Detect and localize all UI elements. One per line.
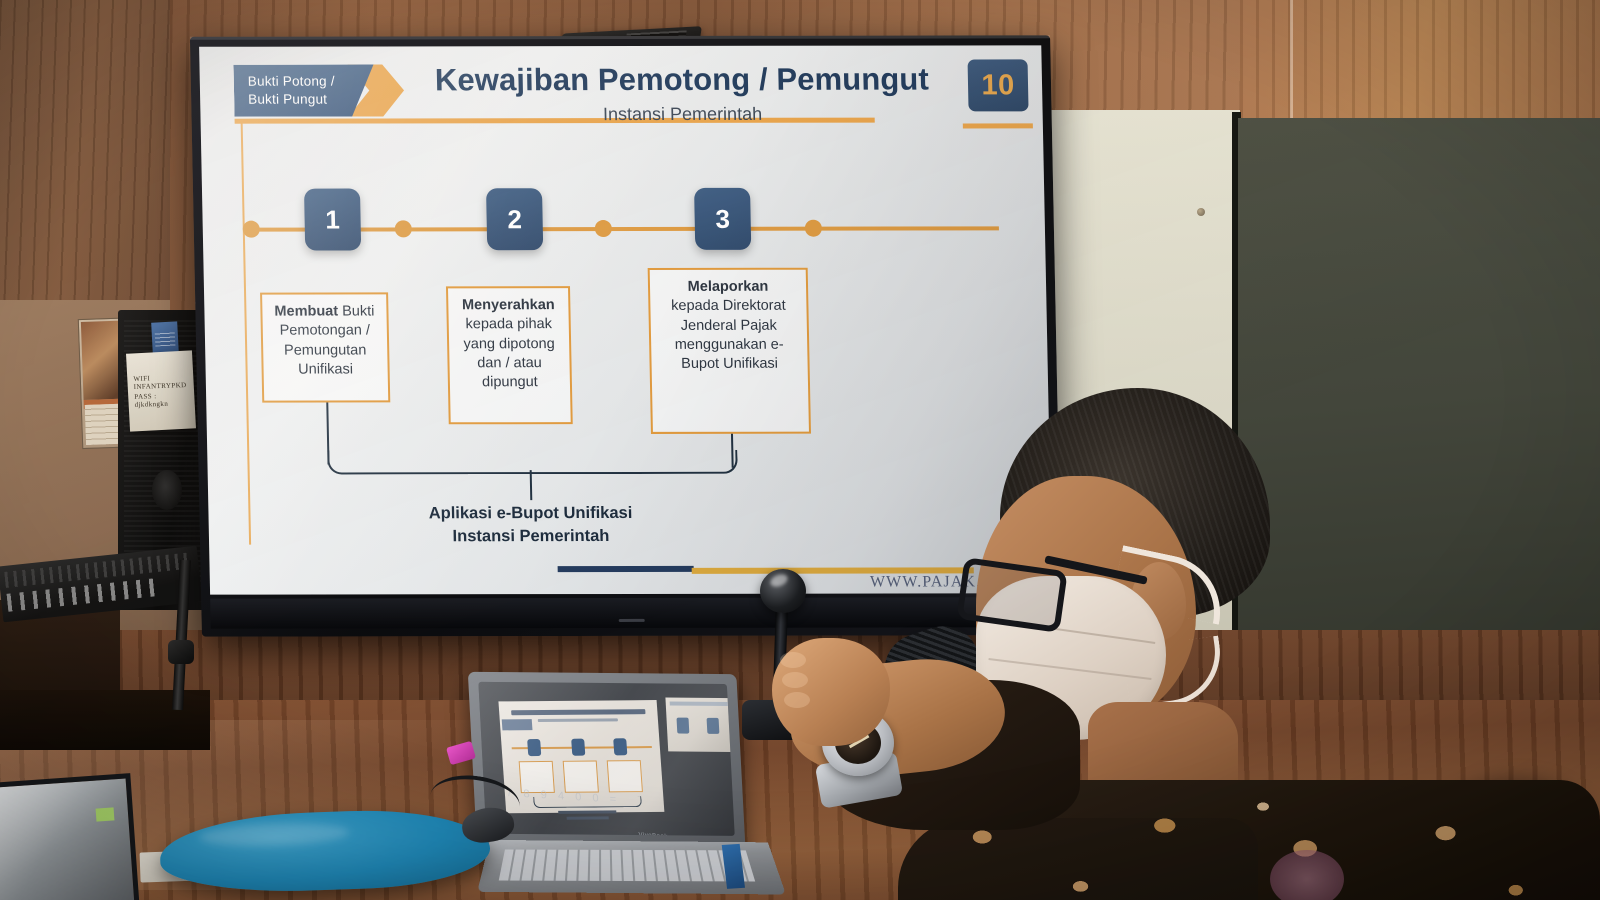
- footer-rule-navy: [558, 566, 694, 572]
- step-1-bold: Membuat: [274, 304, 338, 320]
- timeline-node-1-number: 1: [325, 204, 340, 235]
- slide-page-badge: 10: [968, 59, 1029, 111]
- wifi-password-sign: WIFI INFANTRYPKD PASS : djkdkngkn: [126, 350, 196, 431]
- speaker-driver: [152, 470, 182, 510]
- slide-left-border-rule: [241, 123, 251, 545]
- framed-monitor-panel: [0, 773, 139, 900]
- timeline-node-3-number: 3: [715, 203, 730, 234]
- mic-stand-joint: [168, 640, 194, 664]
- slide-caption-line-1: Aplikasi e-Bupot Unifikasi: [320, 502, 741, 525]
- timeline-node-2: 2: [486, 188, 543, 250]
- slide-tab-line-1: Bukti Potong /: [248, 72, 374, 90]
- eyeglasses-lens: [956, 557, 1068, 633]
- slide-timeline: 1 2 3: [243, 225, 1021, 230]
- laptop[interactable]: 7 8 9 4 0 0 = VivoBook: [468, 664, 780, 900]
- wall-screw: [1197, 208, 1205, 216]
- wall-wood-right-panel: [1240, 0, 1600, 120]
- blue-notice-card: [151, 321, 179, 354]
- slide-tab-line-2: Bukti Pungut: [248, 90, 374, 108]
- knuckle-2: [782, 672, 808, 688]
- green-sticker: [96, 807, 115, 821]
- timeline-dot-1: [395, 220, 412, 237]
- timeline-dot-end: [805, 220, 822, 237]
- slide-page-badge-rule: [963, 123, 1033, 128]
- wifi-password-text: PASS : djkdkngkn: [134, 391, 191, 409]
- timeline-node-2-number: 2: [507, 204, 522, 235]
- presenter-person: [940, 380, 1600, 900]
- slide-title: Kewajiban Pemotong / Pemungut: [421, 61, 942, 98]
- step-3-rest: kepada Direktorat Jenderal Pajak menggun…: [671, 298, 786, 372]
- timeline-connector-line: [251, 226, 999, 231]
- step-box-3: Melaporkankepada Direktorat Jenderal Paj…: [648, 268, 811, 434]
- slide-page-number: 10: [981, 69, 1015, 102]
- brace-stem-center: [530, 470, 533, 500]
- presentation-display: Bukti Potong / Bukti Pungut 10 Kewajiban…: [190, 35, 1062, 636]
- step-3-bold: Melaporkan: [688, 279, 769, 295]
- step-box-1: Membuat Bukti Pemotongan / Pemungutan Un…: [260, 292, 390, 402]
- grouping-brace: [327, 450, 738, 475]
- photo-scene: WIFI INFANTRYPKD PASS : djkdkngkn Bukti …: [0, 0, 1600, 900]
- slide-section-tab: Bukti Potong / Bukti Pungut: [233, 64, 374, 116]
- mask-ear-loop-lower: [1122, 636, 1227, 712]
- tv-screen: Bukti Potong / Bukti Pungut 10 Kewajiban…: [199, 45, 1052, 594]
- slide-canvas: Bukti Potong / Bukti Pungut 10 Kewajiban…: [199, 45, 1052, 594]
- step-2-bold: Menyerahkan: [462, 297, 555, 313]
- tv-brand-mark: [619, 619, 645, 622]
- wifi-ssid-text: WIFI INFANTRYPKD: [133, 373, 190, 391]
- timeline-node-1: 1: [304, 188, 361, 250]
- slide-subtitle: Instansi Pemerintah: [422, 103, 943, 125]
- timeline-node-3: 3: [694, 188, 751, 250]
- knuckle-3: [784, 692, 810, 708]
- tv-lower-bezel: [210, 597, 1053, 628]
- slide-caption-line-2: Instansi Pemerintah: [321, 525, 742, 548]
- step-2-rest: kepada pihak yang dipotong dan / atau di…: [463, 316, 554, 390]
- laptop-keyboard[interactable]: [499, 850, 755, 882]
- batik-pink-motif: [1270, 850, 1344, 900]
- pouch-highlight: [199, 821, 350, 848]
- knuckle-1: [780, 652, 806, 668]
- wall-seam: [1290, 0, 1293, 120]
- slide-caption: Aplikasi e-Bupot Unifikasi Instansi Peme…: [320, 502, 741, 548]
- timeline-dot-start: [243, 221, 260, 238]
- timeline-dot-2: [595, 220, 612, 237]
- step-box-2: Menyerahkankepada pihak yang dipotong da…: [446, 286, 573, 424]
